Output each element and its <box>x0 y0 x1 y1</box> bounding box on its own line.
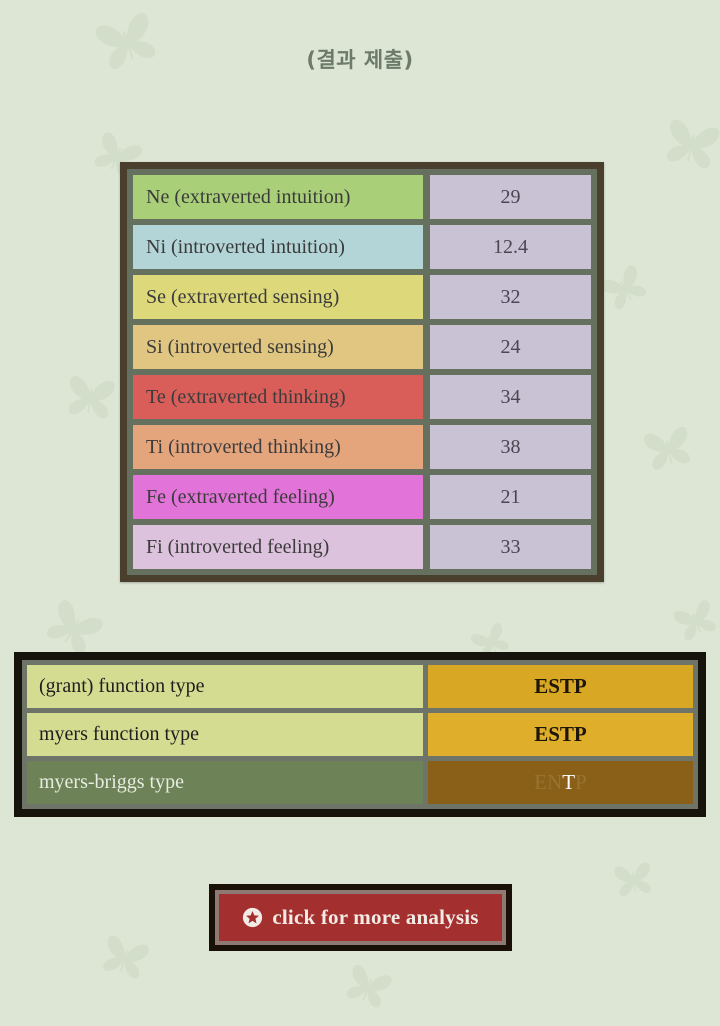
cognitive-functions-table-body: Ne (extraverted intuition)29Ni (introver… <box>127 169 597 575</box>
type-row: (grant) function typeESTP <box>27 665 693 708</box>
function-row: Fi (introverted feeling)33 <box>133 525 591 569</box>
function-score: 32 <box>430 275 591 319</box>
butterfly-icon <box>89 923 160 997</box>
type-label: myers-briggs type <box>27 761 423 804</box>
function-row: Fe (extraverted feeling)21 <box>133 475 591 519</box>
function-label: Se (extraverted sensing) <box>133 275 423 319</box>
type-summary-table: (grant) function typeESTPmyers function … <box>14 652 706 817</box>
type-label: (grant) function type <box>27 665 423 708</box>
function-score: 29 <box>430 175 591 219</box>
function-score: 24 <box>430 325 591 369</box>
function-label: Fe (extraverted feeling) <box>133 475 423 519</box>
function-label: Te (extraverted thinking) <box>133 375 423 419</box>
butterfly-icon <box>607 853 662 912</box>
function-row: Si (introverted sensing)24 <box>133 325 591 369</box>
function-score: 33 <box>430 525 591 569</box>
butterfly-icon <box>56 364 124 437</box>
function-label: Si (introverted sensing) <box>133 325 423 369</box>
butterfly-icon <box>332 953 403 1026</box>
mbti-letter: P <box>575 770 587 794</box>
function-label: Ti (introverted thinking) <box>133 425 423 469</box>
type-row: myers-briggs typeENTP <box>27 761 693 804</box>
function-row: Ne (extraverted intuition)29 <box>133 175 591 219</box>
type-summary-table-body: (grant) function typeESTPmyers function … <box>22 660 698 809</box>
mbti-letter: T <box>562 770 575 794</box>
function-row: Ti (introverted thinking)38 <box>133 425 591 469</box>
butterfly-icon <box>664 589 720 659</box>
star-badge-icon <box>242 907 263 928</box>
type-row: myers function typeESTP <box>27 713 693 756</box>
function-label: Ne (extraverted intuition) <box>133 175 423 219</box>
function-row: Ni (introverted intuition)12.4 <box>133 225 591 269</box>
page-title: (결과 제출) <box>0 44 720 74</box>
mbti-letter: N <box>547 770 562 794</box>
function-score: 21 <box>430 475 591 519</box>
cognitive-functions-table: Ne (extraverted intuition)29Ni (introver… <box>120 162 604 582</box>
butterfly-icon <box>651 106 720 189</box>
type-value: ESTP <box>428 713 693 756</box>
function-label: Fi (introverted feeling) <box>133 525 423 569</box>
function-score: 38 <box>430 425 591 469</box>
analysis-button-frame: click for more analysis <box>209 884 512 951</box>
mbti-letter: E <box>534 770 547 794</box>
type-value: ESTP <box>428 665 693 708</box>
function-label: Ni (introverted intuition) <box>133 225 423 269</box>
function-row: Se (extraverted sensing)32 <box>133 275 591 319</box>
type-value: ENTP <box>428 761 693 804</box>
function-score: 12.4 <box>430 225 591 269</box>
click-for-more-analysis-button[interactable]: click for more analysis <box>219 894 502 941</box>
analysis-button-label: click for more analysis <box>272 905 478 930</box>
function-score: 34 <box>430 375 591 419</box>
analysis-button-bevel: click for more analysis <box>215 890 506 945</box>
butterfly-icon <box>634 415 704 489</box>
function-row: Te (extraverted thinking)34 <box>133 375 591 419</box>
type-label: myers function type <box>27 713 423 756</box>
